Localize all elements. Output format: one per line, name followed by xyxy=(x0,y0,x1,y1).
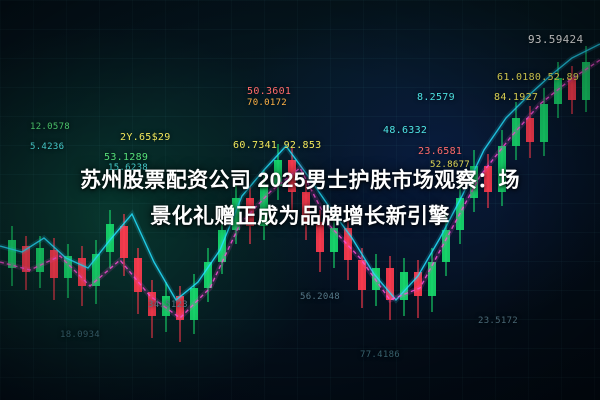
headline-line-1: 苏州股票配资公司 2025男士护肤市场观察：场 xyxy=(26,163,574,199)
headline-overlay: 苏州股票配资公司 2025男士护肤市场观察：场 景化礼赠正成为品牌增长新引擎 xyxy=(0,163,600,235)
image-canvas: 93.5942461.0180.52.898.257984.192750.360… xyxy=(0,0,600,400)
headline-line-2: 景化礼赠正成为品牌增长新引擎 xyxy=(26,199,574,235)
